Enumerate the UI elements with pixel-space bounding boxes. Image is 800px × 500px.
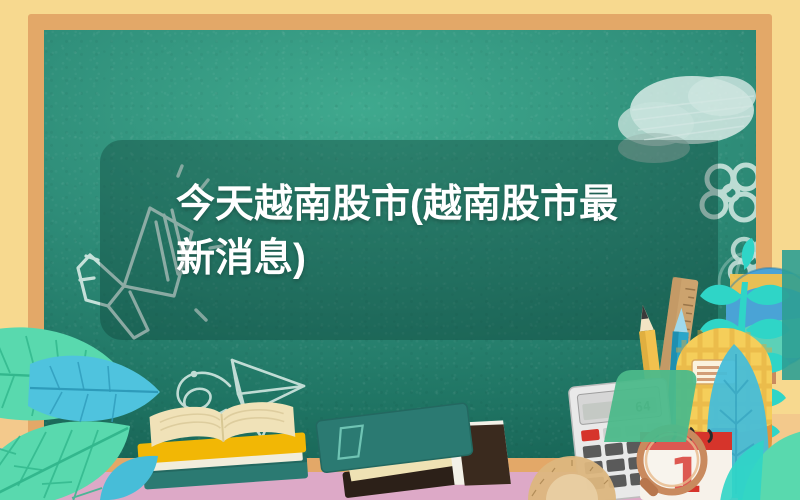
book-stack-center bbox=[300, 398, 520, 500]
leaf-mid-right bbox=[714, 436, 768, 500]
cover-image-canvas: 今天越南股市(越南股市最 新消息) bbox=[0, 0, 800, 500]
blue-leaf-left bbox=[26, 344, 176, 464]
small-blue-leaf-bottom bbox=[96, 452, 166, 500]
teal-strip-right bbox=[782, 250, 800, 380]
title-line-1: 今天越南股市(越南股市最 bbox=[176, 178, 696, 232]
page-title: 今天越南股市(越南股市最 新消息) bbox=[176, 178, 696, 286]
title-line-2: 新消息) bbox=[176, 232, 696, 286]
protractor bbox=[524, 440, 620, 500]
green-folder bbox=[598, 356, 708, 446]
